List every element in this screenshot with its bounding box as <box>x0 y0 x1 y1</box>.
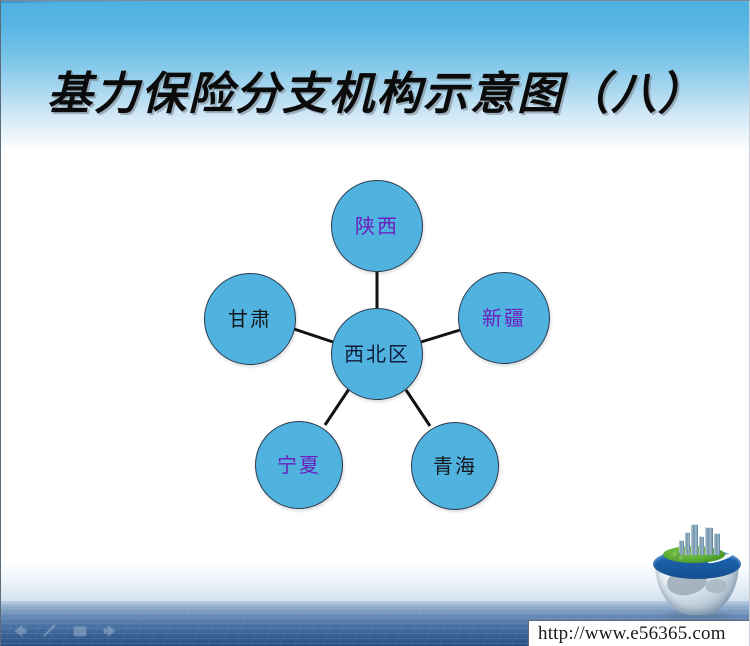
node-label-shaanxi: 陕西 <box>355 216 399 236</box>
edge-center-gansu <box>294 329 333 342</box>
edge-center-qinghai <box>406 390 430 426</box>
node-ningxia[interactable]: 宁夏 <box>255 421 343 509</box>
node-shaanxi[interactable]: 陕西 <box>331 180 423 272</box>
building-1 <box>685 532 690 555</box>
previous-slide-icon[interactable] <box>11 623 29 639</box>
globe-continent-shape-2 <box>705 579 727 593</box>
watermark-url-box: http://www.e56365.com <box>528 620 750 646</box>
node-label-qinghai: 青海 <box>433 456 477 476</box>
presentation-slide: 基力保险分支机构示意图（八） 陕西 甘肃 新疆 西北区 宁夏 <box>0 0 750 646</box>
node-qinghai[interactable]: 青海 <box>411 422 499 510</box>
next-slide-icon[interactable] <box>101 623 119 639</box>
edge-center-xinjiang <box>421 330 460 342</box>
node-center-northwest-region[interactable]: 西北区 <box>331 308 423 400</box>
node-label-gansu: 甘肃 <box>228 309 272 329</box>
node-label-center: 西北区 <box>344 344 410 364</box>
node-xinjiang[interactable]: 新疆 <box>458 272 550 364</box>
slide-menu-icon[interactable] <box>71 623 89 639</box>
building-5 <box>714 533 720 555</box>
tree-2 <box>678 555 685 561</box>
earth-city-globe-icon <box>649 529 745 621</box>
building-3 <box>699 536 704 555</box>
edge-center-ningxia <box>325 389 349 425</box>
slideshow-controls <box>11 623 119 639</box>
building-4 <box>705 527 713 555</box>
pen-icon[interactable] <box>41 623 59 639</box>
org-chart-diagram: 陕西 甘肃 新疆 西北区 宁夏 青海 <box>1 1 750 646</box>
building-2 <box>691 524 698 555</box>
node-gansu[interactable]: 甘肃 <box>204 273 296 365</box>
node-label-xinjiang: 新疆 <box>482 308 526 328</box>
watermark-url-text: http://www.e56365.com <box>538 623 726 645</box>
node-label-ningxia: 宁夏 <box>277 455 321 475</box>
